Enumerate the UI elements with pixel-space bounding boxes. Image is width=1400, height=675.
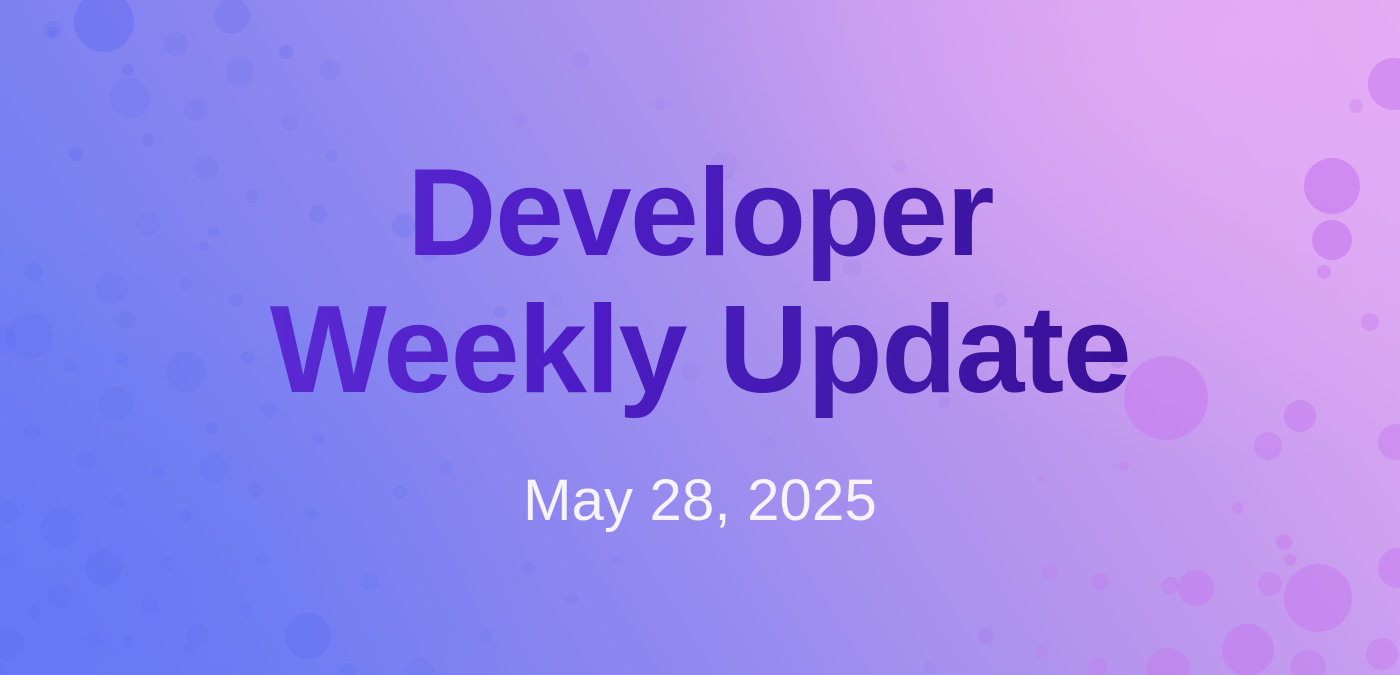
slide-content: Developer Weekly Update May 28, 2025	[0, 0, 1400, 675]
page-title-line-1: Developer	[270, 145, 1130, 281]
title-slide: Developer Weekly Update May 28, 2025	[0, 0, 1400, 675]
slide-date: May 28, 2025	[523, 472, 877, 530]
page-title: Developer Weekly Update	[270, 145, 1130, 418]
page-title-line-2: Weekly Update	[270, 282, 1130, 418]
